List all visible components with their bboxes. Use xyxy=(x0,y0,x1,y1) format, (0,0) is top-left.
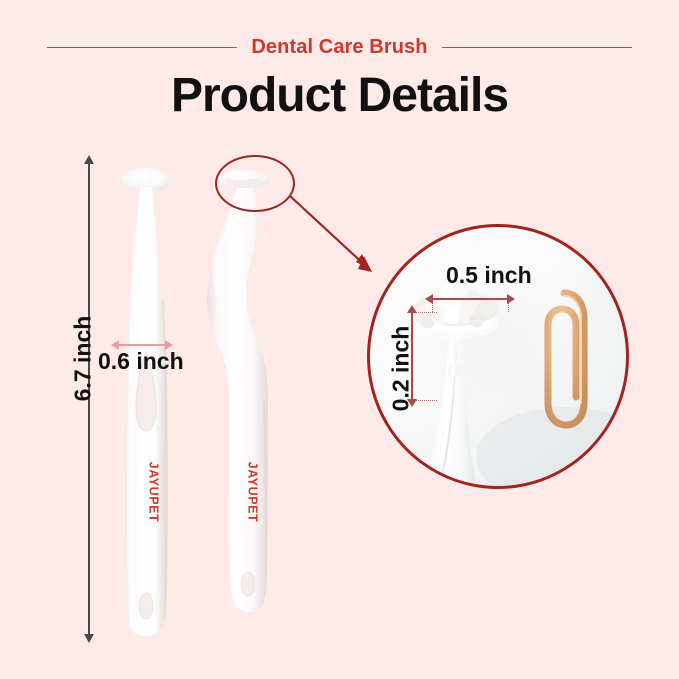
divider-right xyxy=(442,47,632,48)
total-length-label: 6.7 inch xyxy=(69,316,96,402)
side-brush-brand: JAYUPET xyxy=(245,462,259,523)
infographic-canvas: Dental Care Brush Product Details 6.7 in… xyxy=(0,0,679,679)
head-width-label: 0.5 inch xyxy=(446,262,532,289)
head-width-arrow xyxy=(432,298,508,300)
handle-width-label: 0.6 inch xyxy=(98,348,184,375)
handle-width-arrow xyxy=(118,344,166,346)
eyebrow-row: Dental Care Brush xyxy=(0,33,679,61)
callout-leader-arrow xyxy=(288,192,388,287)
head-height-arrow xyxy=(411,312,413,400)
callout-ellipse xyxy=(215,155,295,212)
divider-left xyxy=(47,47,237,48)
front-view-brush xyxy=(100,160,192,640)
eyebrow-text: Dental Care Brush xyxy=(251,36,427,59)
page-title: Product Details xyxy=(0,68,679,123)
front-brush-brand: JAYUPET xyxy=(146,462,160,523)
